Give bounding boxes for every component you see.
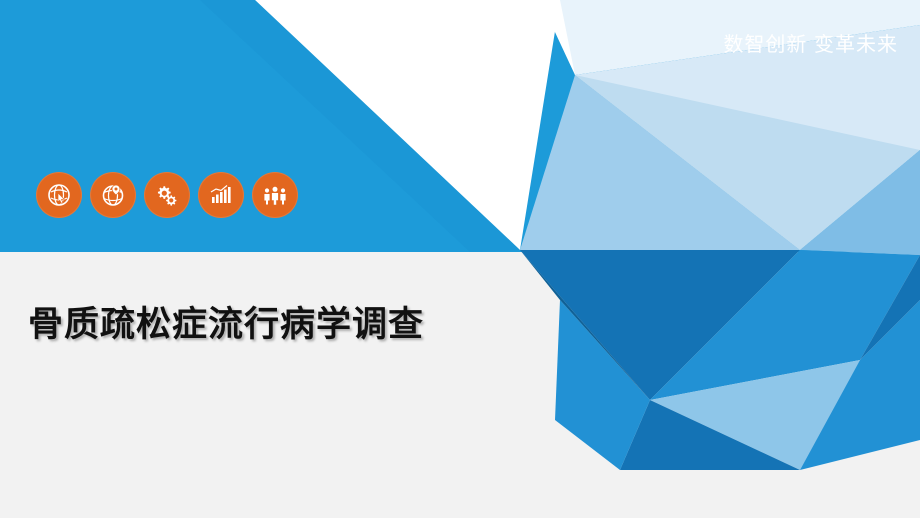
bar-chart-icon[interactable] [198,172,244,218]
page-title: 骨质疏松症流行病学调查 [28,296,424,347]
background-polygon-art [0,0,920,518]
icon-row [36,172,298,218]
slide-canvas: 数智创新 变革未来 [0,0,920,518]
globe-pin-icon[interactable] [90,172,136,218]
slide-tagline: 数智创新 变革未来 [723,28,898,57]
people-group-glyph [262,182,288,208]
bar-chart-glyph [208,182,234,208]
gears-icon[interactable] [144,172,190,218]
globe-pin-glyph [100,182,126,208]
people-group-icon[interactable] [252,172,298,218]
globe-cursor-glyph [46,182,72,208]
globe-cursor-icon[interactable] [36,172,82,218]
gears-glyph [154,182,180,208]
